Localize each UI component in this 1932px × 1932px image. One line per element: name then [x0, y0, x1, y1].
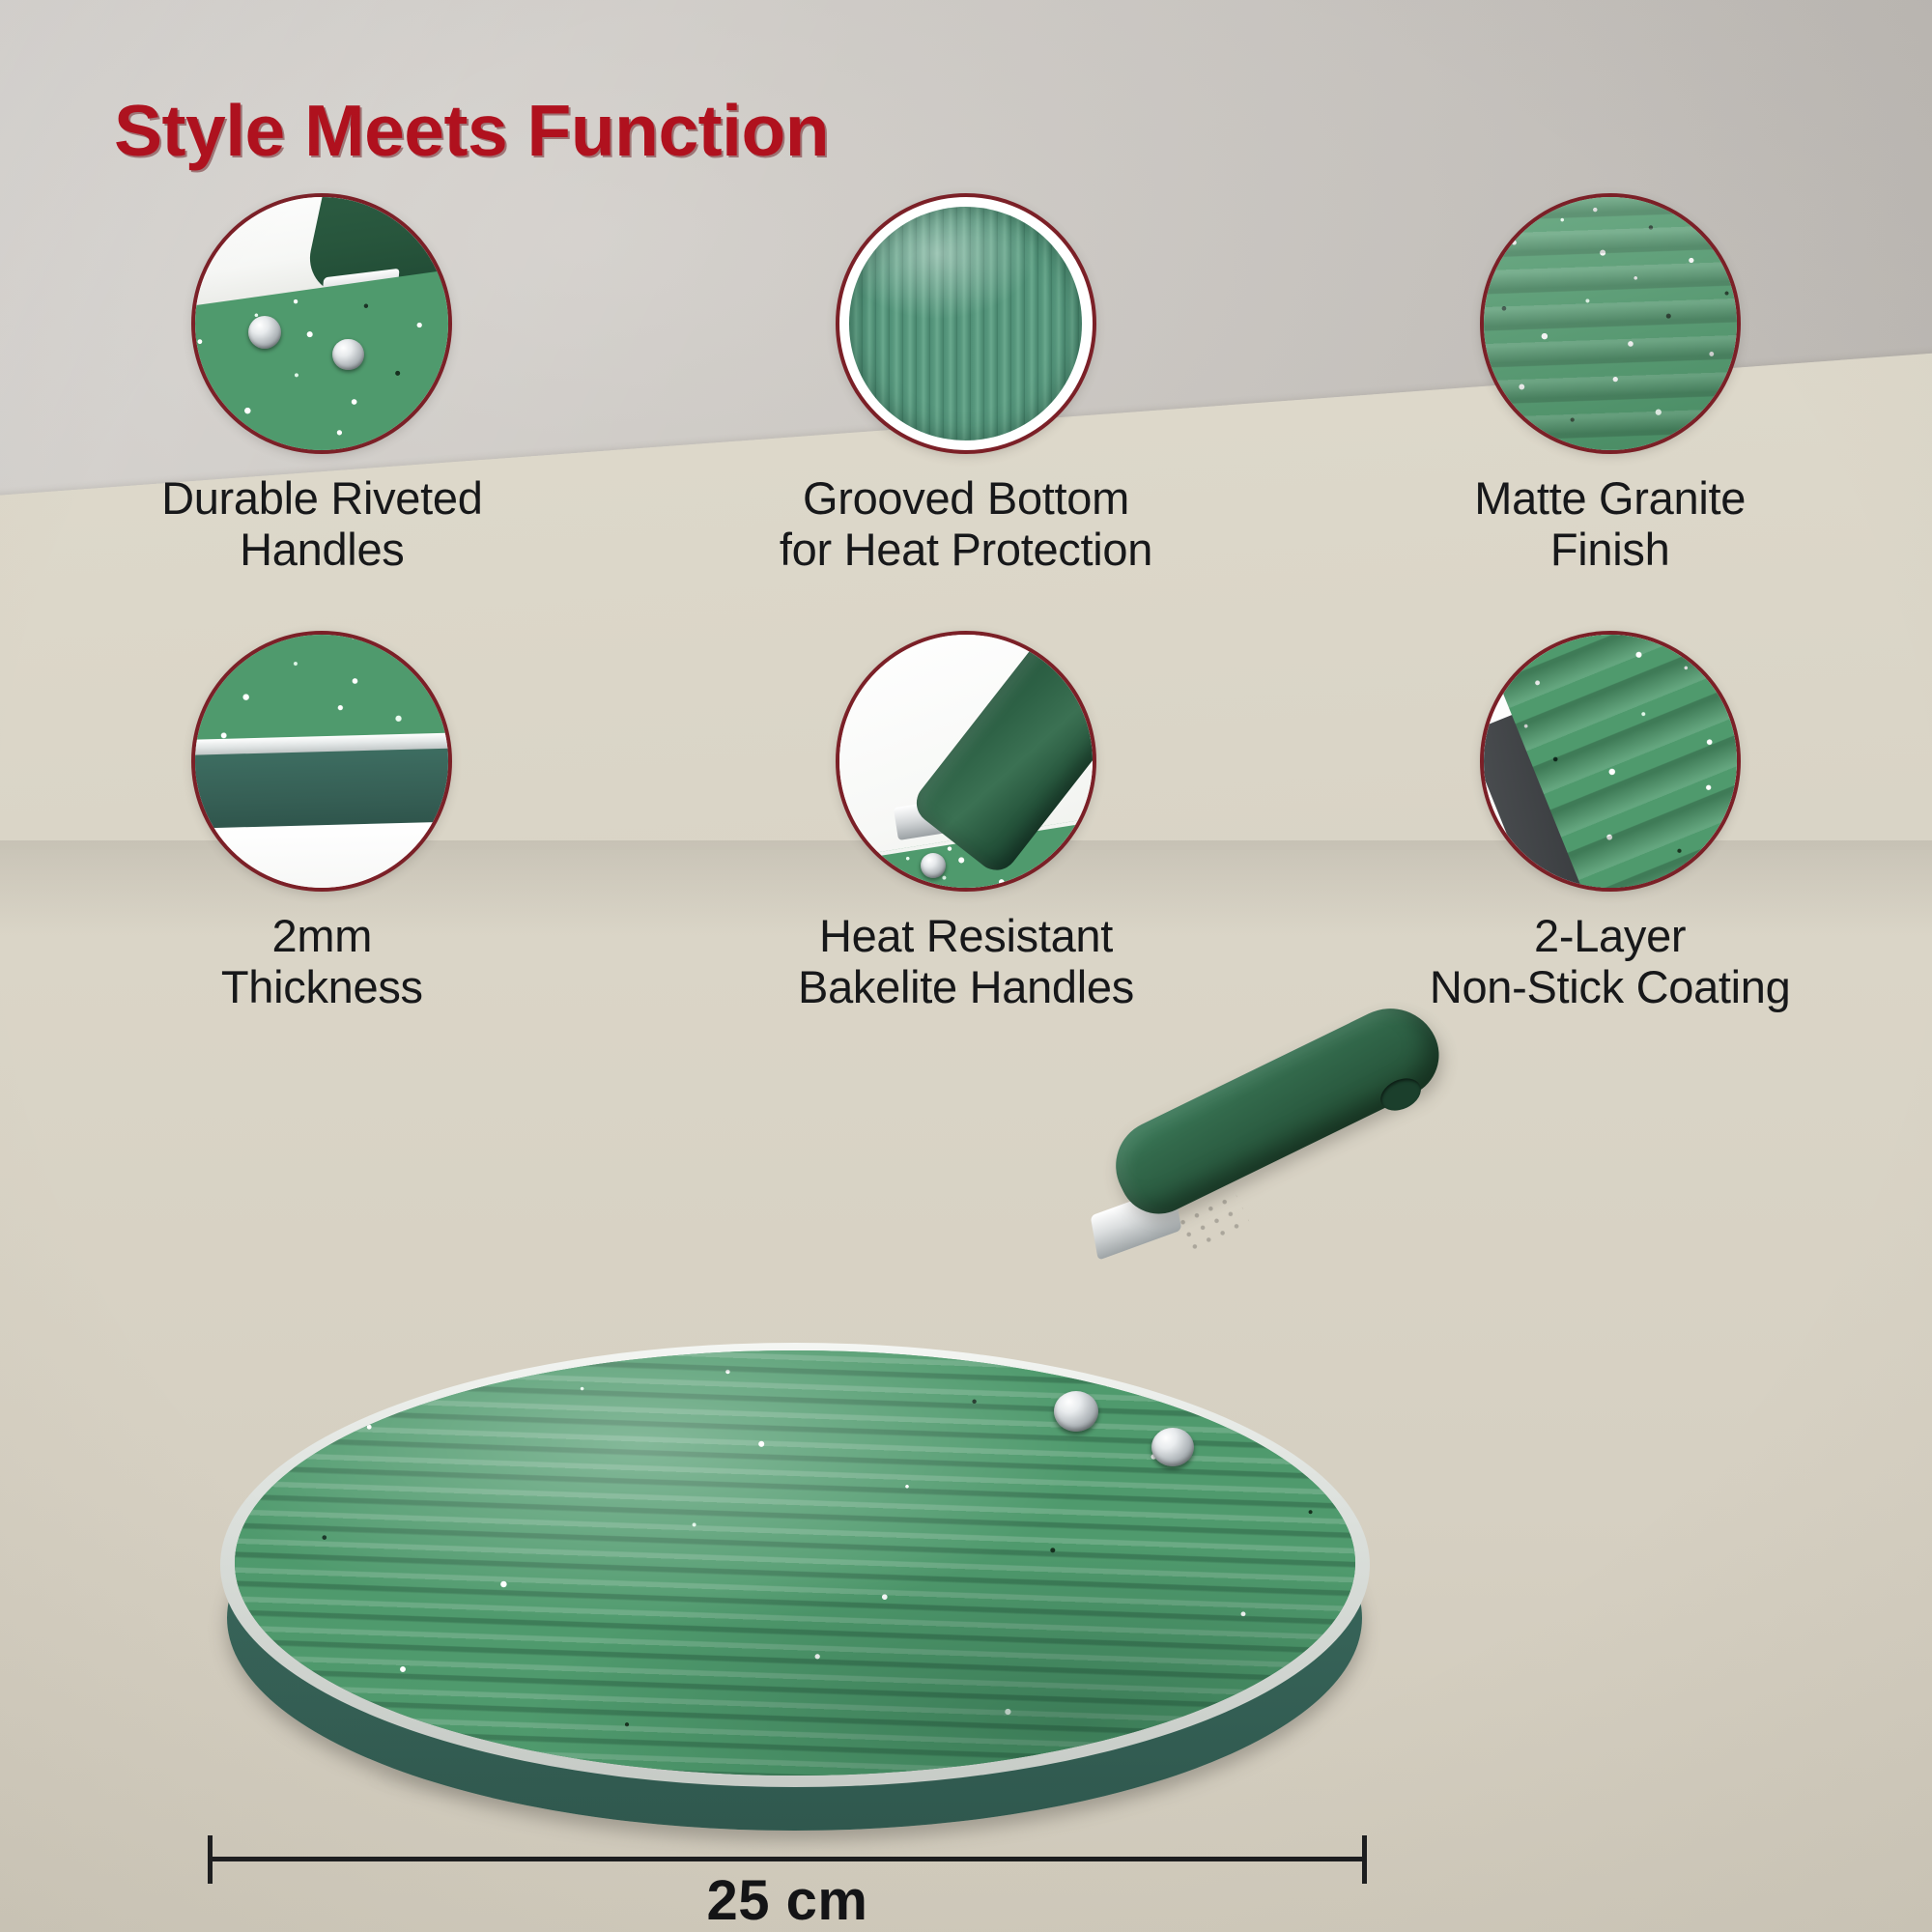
- vignette-overlay: [0, 0, 1932, 1932]
- infographic-canvas: Style Meets Function Durable Riveted Han…: [0, 0, 1932, 1932]
